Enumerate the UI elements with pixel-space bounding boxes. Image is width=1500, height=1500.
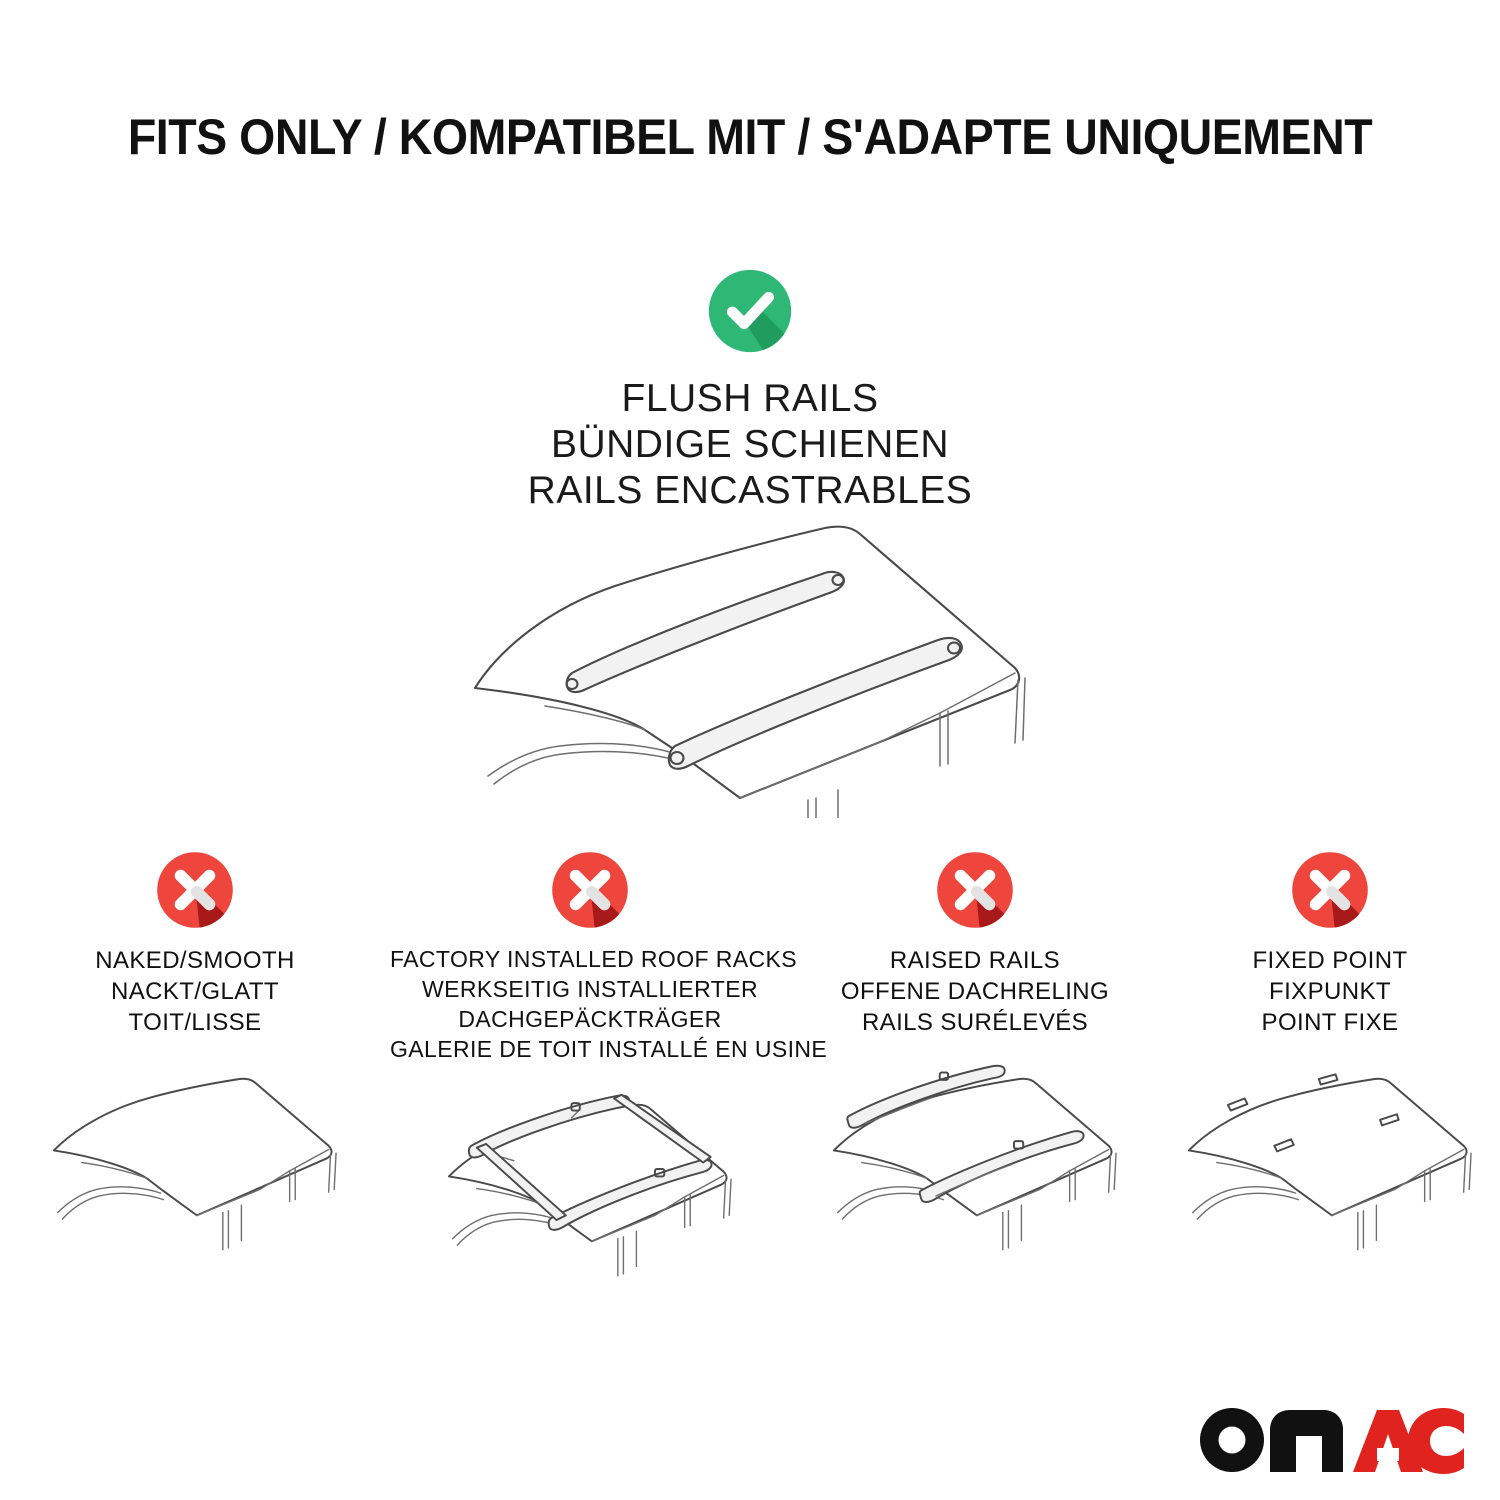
not-compatible-labels: FACTORY INSTALLED ROOF RACKS WERKSEITIG …	[390, 945, 790, 1065]
car-roof-flush-rails-icon	[440, 498, 1060, 818]
not-compatible-labels: RAISED RAILS OFFENE DACHRELING RAILS SUR…	[790, 945, 1160, 1039]
not-compatible-item-fixed-point: FIXED POINT FIXPUNKT POINT FIXE	[1160, 845, 1500, 1285]
not-compatible-item-naked: NAKED/SMOOTH NACKT/GLATT TOIT/LISSE	[0, 845, 390, 1285]
not-compatible-item-factory-racks: FACTORY INSTALLED ROOF RACKS WERKSEITIG …	[390, 845, 790, 1311]
fits-section: FLUSH RAILS BÜNDIGE SCHIENEN RAILS ENCAS…	[0, 262, 1500, 514]
not-compatible-section: NAKED/SMOOTH NACKT/GLATT TOIT/LISSE	[0, 845, 1500, 1311]
check-circle-icon	[701, 262, 799, 360]
not-compatible-labels: FIXED POINT FIXPUNKT POINT FIXE	[1160, 945, 1500, 1039]
label-de2: DACHGEPÄCKTRÄGER	[390, 1005, 790, 1035]
x-circle-icon	[930, 845, 1020, 935]
label-fr: POINT FIXE	[1160, 1007, 1500, 1038]
label-de: FIXPUNKT	[1160, 976, 1500, 1007]
label-fr: GALERIE DE TOIT INSTALLÉ EN USINE	[390, 1035, 790, 1065]
not-compatible-item-raised-rails: RAISED RAILS OFFENE DACHRELING RAILS SUR…	[790, 845, 1160, 1285]
label-de: NACKT/GLATT	[0, 976, 390, 1007]
not-compatible-labels: NAKED/SMOOTH NACKT/GLATT TOIT/LISSE	[0, 945, 390, 1039]
x-circle-icon	[545, 845, 635, 935]
label-en: FIXED POINT	[1160, 945, 1500, 976]
car-roof-factory-racks-icon	[420, 1079, 760, 1311]
label-en: RAISED RAILS	[790, 945, 1160, 976]
label-en: NAKED/SMOOTH	[0, 945, 390, 976]
fits-label-de: BÜNDIGE SCHIENEN	[0, 422, 1500, 468]
label-fr: RAILS SURÉLEVÉS	[790, 1007, 1160, 1038]
label-fr: TOIT/LISSE	[0, 1007, 390, 1038]
fits-labels: FLUSH RAILS BÜNDIGE SCHIENEN RAILS ENCAS…	[0, 376, 1500, 514]
car-roof-naked-icon	[25, 1053, 365, 1285]
label-en: FACTORY INSTALLED ROOF RACKS	[390, 945, 790, 975]
car-roof-fixed-point-icon	[1165, 1053, 1495, 1285]
label-de: OFFENE DACHRELING	[790, 976, 1160, 1007]
x-circle-icon	[150, 845, 240, 935]
x-circle-icon	[1285, 845, 1375, 935]
label-de: WERKSEITIG INSTALLIERTER	[390, 975, 790, 1005]
fits-label-en: FLUSH RAILS	[0, 376, 1500, 422]
car-roof-raised-rails-icon	[805, 1053, 1145, 1285]
page-title: FITS ONLY / KOMPATIBEL MIT / S'ADAPTE UN…	[53, 108, 1448, 166]
omac-logo	[1196, 1392, 1466, 1482]
